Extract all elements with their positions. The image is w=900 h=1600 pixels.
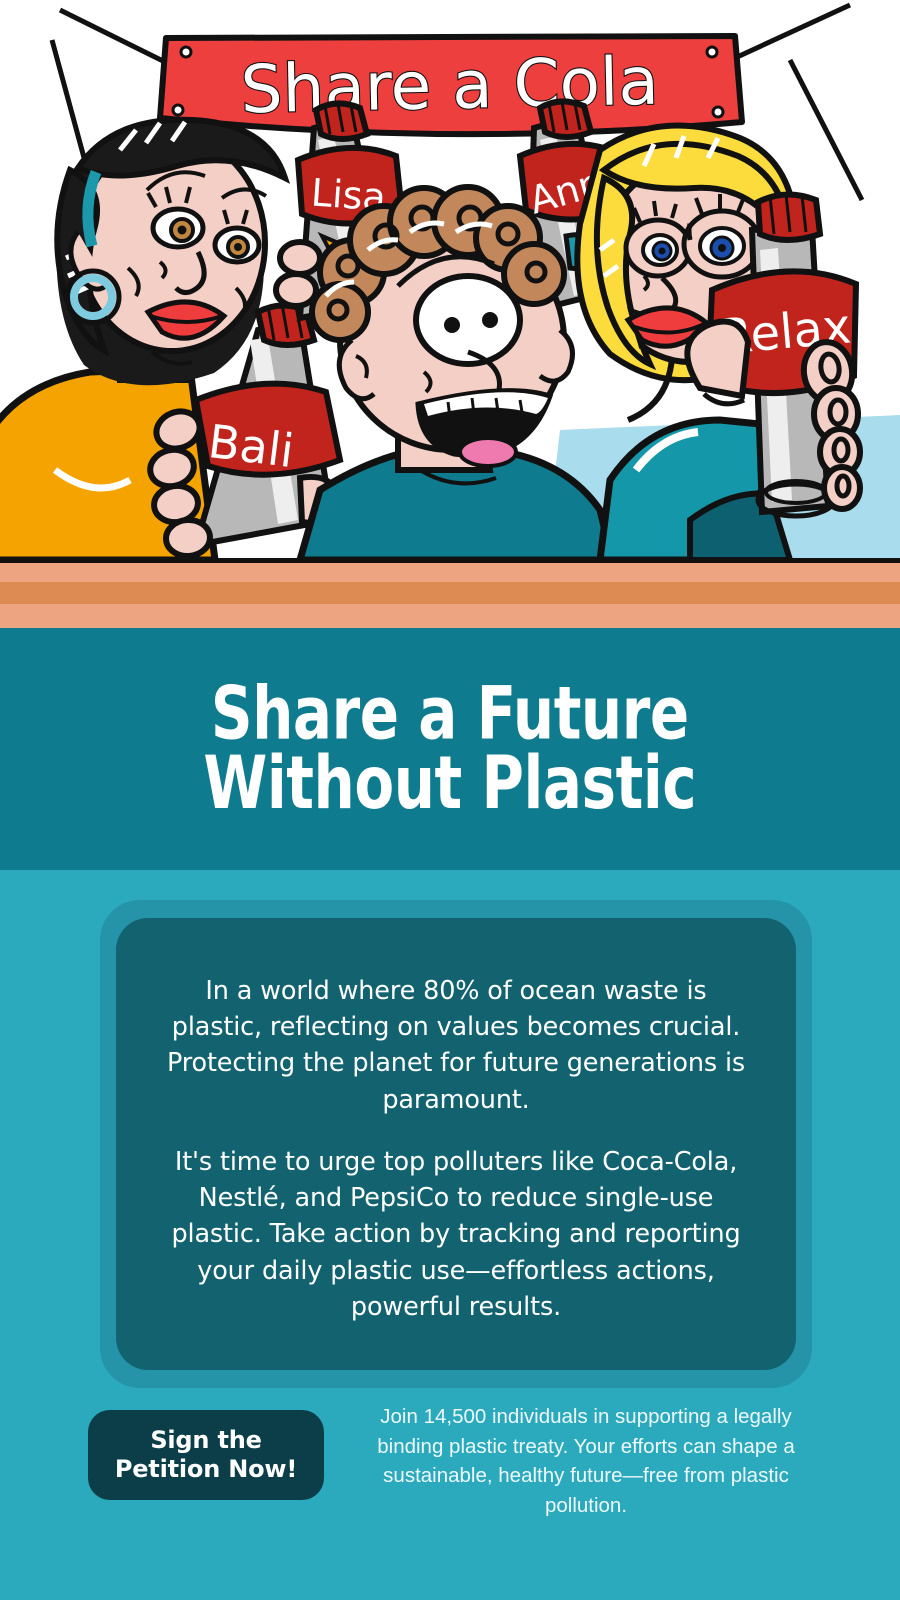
divider-band-orange xyxy=(0,582,900,604)
headline-line-2: Without Plastic xyxy=(204,749,697,819)
divider-band-peach-bottom xyxy=(0,604,900,628)
footer-supporter-note: Join 14,500 individuals in supporting a … xyxy=(360,1402,812,1520)
body-paragraph-2: It's time to urge top polluters like Coc… xyxy=(162,1144,750,1325)
share-a-cola-banner: Share a Cola xyxy=(160,36,742,134)
divider-band-peach-top xyxy=(0,563,900,582)
footer-cta-row: Sign the Petition Now! Join 14,500 indiv… xyxy=(0,1398,900,1538)
poster-root: Share a Cola xyxy=(0,0,900,1600)
headline-line-1: Share a Future xyxy=(204,679,697,749)
bottle-label-bali: Bali xyxy=(205,414,296,478)
sign-petition-button[interactable]: Sign the Petition Now! xyxy=(88,1410,324,1500)
sign-petition-line-2: Petition Now! xyxy=(115,1455,297,1484)
message-card: In a world where 80% of ocean waste is p… xyxy=(116,918,796,1370)
hero-illustration: Share a Cola xyxy=(0,0,900,560)
page-title: Share a Future Without Plastic xyxy=(204,679,697,819)
headline-section: Share a Future Without Plastic xyxy=(0,628,900,870)
sign-petition-line-1: Sign the xyxy=(150,1426,261,1455)
body-paragraph-1: In a world where 80% of ocean waste is p… xyxy=(162,973,750,1118)
banner-text: Share a Cola xyxy=(240,43,660,129)
